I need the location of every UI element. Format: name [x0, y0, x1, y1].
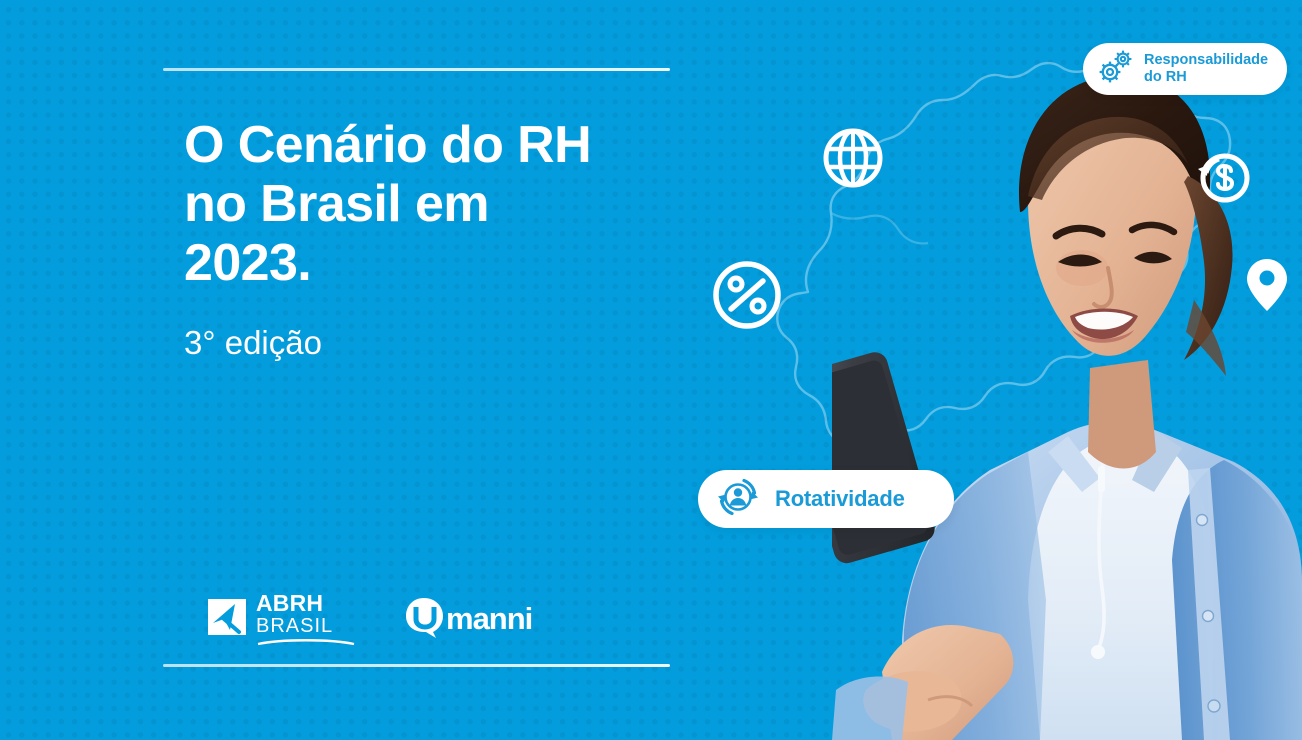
presentation-slide: O Cenário do RH no Brasil em 2023. 3° ed…: [0, 0, 1302, 740]
abrh-line-1: ABRH: [256, 592, 356, 615]
dollar-rotation-icon: [1194, 149, 1252, 212]
divider-bottom: [163, 664, 670, 667]
badge-responsabilidade-do-rh[interactable]: Responsabilidade do RH: [1083, 43, 1287, 95]
umanni-wordmark: manni: [446, 601, 532, 637]
abrh-arrow-icon: [205, 596, 249, 643]
headline-line-1: O Cenário do RH: [184, 116, 704, 175]
divider-top: [163, 68, 670, 71]
globe-icon: [822, 127, 884, 194]
page-title: O Cenário do RH no Brasil em 2023.: [184, 116, 704, 293]
badge-label-line-2: do RH: [1144, 69, 1187, 85]
umanni-speech-bubble-icon: [405, 596, 445, 643]
badge-label: Responsabilidade do RH: [1144, 52, 1268, 86]
map-pin-icon: [1245, 257, 1289, 318]
badge-label: Rotatividade: [775, 486, 905, 512]
percent-circle-icon: [711, 259, 783, 336]
abrh-wordmark: ABRH BRASIL: [256, 592, 356, 646]
woman-smiling-looking-at-smartphone: [832, 0, 1302, 740]
badge-rotatividade[interactable]: Rotatividade: [698, 470, 954, 528]
headline-line-2: no Brasil em: [184, 175, 704, 234]
badge-label-line-1: Responsabilidade: [1144, 52, 1268, 68]
subtitle: 3° edição: [184, 324, 322, 362]
gears-icon: [1095, 48, 1137, 91]
abrh-brasil-logo: ABRH BRASIL: [205, 592, 356, 646]
abrh-line-2: BRASIL: [256, 616, 356, 636]
headline-line-3: 2023.: [184, 234, 704, 293]
logo-row: ABRH BRASIL manni: [205, 592, 532, 646]
person-rotation-icon: [715, 474, 761, 525]
umanni-logo: manni: [405, 596, 532, 643]
